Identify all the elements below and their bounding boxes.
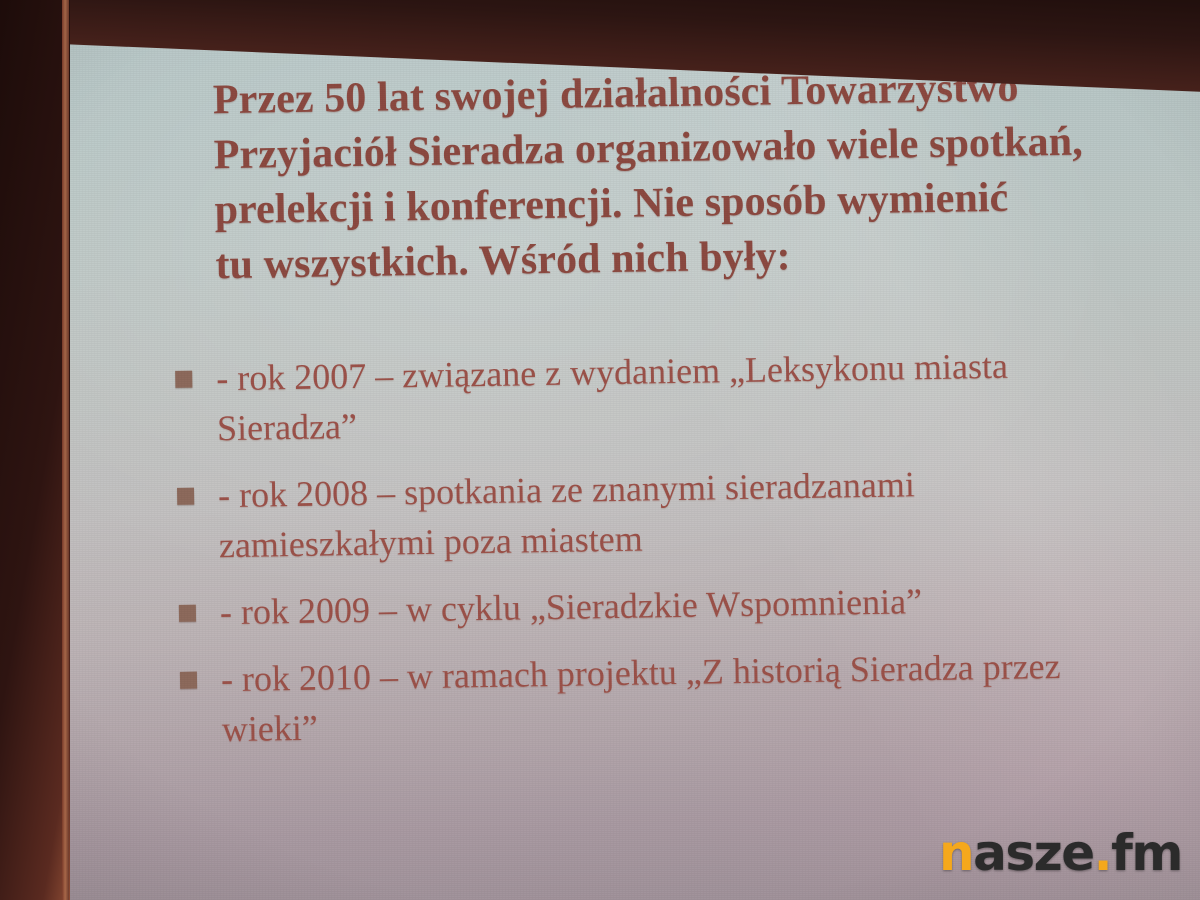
square-bullet-icon (179, 605, 196, 622)
square-bullet-icon (180, 672, 197, 689)
screen-left-edge (62, 0, 69, 900)
slide-bullet-list: - rok 2007 – związane z wydaniem „Leksyk… (175, 338, 1191, 772)
bullet-3-line-1: - rok 2009 – w cyklu „Sieradzkie Wspomni… (220, 576, 923, 637)
bullet-item-2008: - rok 2008 – spotkania ze znanymi sierad… (218, 459, 916, 570)
bullet-item-2010: - rok 2010 – w ramach projektu „Z histor… (221, 641, 1062, 754)
list-item: - rok 2010 – w ramach projektu „Z histor… (180, 639, 1191, 755)
watermark-dot: . (1094, 824, 1112, 882)
bullet-item-2007: - rok 2007 – związane z wydaniem „Leksyk… (216, 341, 1009, 453)
watermark-middle: asze (973, 824, 1094, 882)
list-item: - rok 2008 – spotkania ze znanymi sierad… (177, 455, 1188, 571)
watermark-letter-n: n (939, 824, 973, 882)
square-bullet-icon (177, 488, 194, 505)
projected-slide-photo: Przez 50 lat swojej działalności Towarzy… (0, 0, 1200, 900)
list-item: - rok 2007 – związane z wydaniem „Leksyk… (175, 338, 1186, 454)
square-bullet-icon (175, 371, 192, 388)
watermark-fm: fm (1111, 824, 1182, 882)
presentation-slide: Przez 50 lat swojej działalności Towarzy… (61, 0, 1200, 900)
nasze-fm-watermark: nasze.fm (939, 828, 1182, 878)
projection-screen: Przez 50 lat swojej działalności Towarzy… (67, 0, 1200, 900)
list-item: - rok 2009 – w cyklu „Sieradzkie Wspomni… (179, 572, 1190, 638)
slide-lead-paragraph: Przez 50 lat swojej działalności Towarzy… (212, 59, 1145, 294)
bullet-item-2009: - rok 2009 – w cyklu „Sieradzkie Wspomni… (220, 576, 923, 637)
room-wall-left (0, 0, 70, 900)
bullet-2-line-2: zamieszkałymi poza miastem (219, 509, 916, 570)
